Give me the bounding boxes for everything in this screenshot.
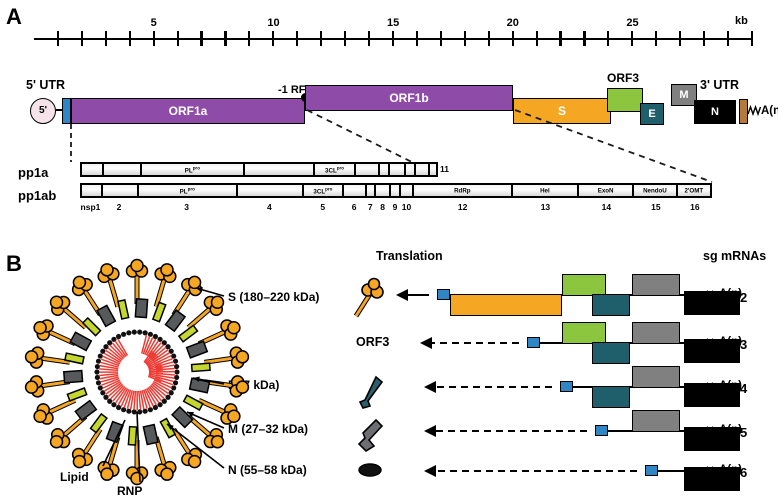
- pp1ab-label: pp1ab: [18, 189, 56, 202]
- callout-n-label: N (55–58 kDa): [228, 464, 307, 476]
- nsp-segment: PLpro: [138, 184, 237, 197]
- orf3-gene-box: [607, 88, 643, 112]
- sg-mrna-number-5: 5: [740, 425, 747, 440]
- sg-mrna-gene-e: [592, 294, 630, 316]
- pp1a-bar: PLpro3CLpro: [80, 162, 438, 177]
- ruler-tick: [416, 31, 418, 46]
- pp1ab-bar: PLpro3CLproRdRpHelExoNNendoU2'OMT: [80, 183, 712, 198]
- ruler-tick: [392, 31, 394, 46]
- callout-m-label: M (27–32 kDa): [228, 423, 308, 435]
- nsp-number: 4: [255, 202, 283, 212]
- ruler-tick: [200, 31, 202, 46]
- orf1b-box: ORF1b: [305, 85, 513, 111]
- ruler-tick: [655, 31, 657, 46]
- polya-label: A(n): [719, 424, 742, 436]
- sg-mrna-backbone: [560, 386, 705, 388]
- nsp-segment: [429, 163, 437, 176]
- sg-mrna-leader-box: [645, 465, 658, 476]
- nsp-segment: [375, 184, 390, 197]
- sg-mrna-gene-s: [450, 294, 562, 316]
- nsp-number: 16: [681, 202, 709, 212]
- nsp-segment: [400, 184, 413, 197]
- polya-tail-squiggle: [705, 336, 719, 350]
- nsp-segment: NendoU: [633, 184, 677, 197]
- panel-b-letter: B: [6, 253, 22, 275]
- sg-mrna-gene-m: [632, 322, 680, 344]
- nsp-segment: RdRp: [413, 184, 512, 197]
- sg-mrna-backbone: [645, 470, 705, 472]
- ruler-tick: [512, 31, 514, 46]
- sg-mrna-leader-box: [595, 425, 608, 436]
- ruler-tick: [105, 31, 107, 46]
- ruler-tick: [320, 31, 322, 46]
- polya-tail-squiggle: [705, 288, 719, 302]
- nsp-number: 2: [105, 202, 133, 212]
- ruler-tick: [559, 31, 561, 46]
- sg-mrna-number-3: 3: [740, 337, 747, 352]
- ruler-tick: [679, 31, 681, 46]
- callout-s-label: S (180–220 kDa): [228, 291, 319, 303]
- ruler-tick: [57, 31, 59, 46]
- sg-mrna-backbone: [527, 342, 705, 344]
- nsp-segment: [379, 163, 389, 176]
- nsp-segment: [237, 184, 303, 197]
- ruler-tick: [129, 31, 131, 46]
- ruler-tick: [536, 31, 538, 46]
- pp1a-end-number: 11: [440, 164, 454, 174]
- nsp-segment: Hel: [512, 184, 578, 197]
- pp1a-label: pp1a: [18, 166, 48, 179]
- ruler-major-label: 25: [626, 18, 638, 29]
- polya-label: A(n): [719, 464, 742, 476]
- e-protein-icon: [356, 375, 388, 413]
- ruler-tick: [703, 31, 705, 46]
- sg-mrna-gene-n: [684, 339, 740, 363]
- sg-mrna-gene-n: [684, 383, 740, 407]
- ruler-tick: [81, 31, 83, 46]
- nsp-number: 10: [392, 202, 420, 212]
- ruler-tick: [488, 31, 490, 46]
- ruler-tick: [631, 31, 633, 46]
- sg-mrna-gene-e: [592, 342, 630, 364]
- ruler-tick: [177, 31, 179, 46]
- sg-mrna-gene-m: [632, 366, 680, 388]
- polya-tail-squiggle: [705, 380, 719, 394]
- five-utr-label: 5' UTR: [26, 79, 65, 92]
- ruler-major-label: 15: [387, 18, 399, 29]
- sg-mrna-leader-box: [527, 337, 540, 348]
- ruler-major-label: 5: [148, 18, 160, 29]
- sg-mrna-leader-box: [437, 289, 450, 300]
- m-protein-icon: [354, 418, 388, 456]
- sg-mrna-gene-m: [632, 274, 680, 296]
- nsp-segment: ExoN: [578, 184, 633, 197]
- nsp-number: 14: [592, 202, 620, 212]
- sg-mrna-backbone: [437, 294, 705, 296]
- polya-label: A(n): [719, 288, 742, 300]
- nsp-segment: [343, 184, 366, 197]
- sg-mrna-number-4: 4: [740, 381, 747, 396]
- ruler-tick: [607, 31, 609, 46]
- nsp-segment: [415, 163, 429, 176]
- sg-mrna-gene-m: [632, 410, 680, 432]
- ruler-major-label: 10: [267, 18, 279, 29]
- ruler-tick: [751, 31, 753, 46]
- genome-ruler: 510152025: [34, 18, 752, 46]
- ruler-tick: [368, 31, 370, 46]
- ruler-tick: [224, 31, 226, 46]
- nsp-segment: [103, 163, 141, 176]
- polya-label: A(n): [719, 336, 742, 348]
- orf1b-label: ORF1b: [306, 92, 512, 104]
- ruler-tick: [296, 31, 298, 46]
- nsp-segment: [355, 163, 379, 176]
- nsp-segment: [366, 184, 375, 197]
- sg-mrna-gene-e: [592, 386, 630, 408]
- sg-mrna-backbone: [595, 430, 705, 432]
- callout-e-label: E (7 kDa): [228, 379, 279, 391]
- sg-mrna-gene-orf3: [562, 274, 606, 296]
- ruler-tick: [440, 31, 442, 46]
- m-gene-label: M: [672, 90, 696, 101]
- ruler-tick: [248, 31, 250, 46]
- nsp-segment: 3CLpro: [314, 163, 356, 176]
- sg-mrnas-header: sg mRNAs: [703, 250, 766, 263]
- polya-tail-squiggle: [705, 464, 719, 478]
- nsp-segment: [244, 163, 314, 176]
- ruler-tick: [272, 31, 274, 46]
- sg-mrna-number-2: 2: [740, 290, 747, 305]
- sg-mrna-gene-n: [684, 467, 740, 491]
- polya-tail-squiggle: [705, 424, 719, 438]
- ruler-tick: [153, 31, 155, 46]
- three-utr-label: 3' UTR: [700, 79, 739, 92]
- nsp-segment: PLpro: [141, 163, 244, 176]
- panel-a-letter: A: [6, 6, 22, 28]
- nsp-segment: [81, 184, 102, 197]
- nsp-segment: [81, 163, 103, 176]
- nsp-number-row: nsp123456789101213141516: [0, 202, 778, 216]
- callout-lipid-label: Lipid: [60, 471, 89, 483]
- nsp-number: 15: [642, 202, 670, 212]
- orf3-genome-label: ORF3: [607, 72, 639, 84]
- sg-mrna-gene-n: [684, 291, 740, 315]
- nsp-segment: 2'OMT: [677, 184, 711, 197]
- sg-mrna-leader-box: [560, 381, 573, 392]
- ruler-tick: [344, 31, 346, 46]
- translation-orf3-label: ORF3: [356, 336, 389, 349]
- ruler-unit-label: kb: [735, 16, 748, 27]
- sg-mrna-gene-n: [684, 427, 740, 451]
- nsp-segment: [390, 184, 399, 197]
- nsp-number: 3: [173, 202, 201, 212]
- sg-mrna-number-6: 6: [740, 465, 747, 480]
- translation-header: Translation: [376, 250, 443, 263]
- nsp-segment: [389, 163, 405, 176]
- polya-label: A(n): [719, 380, 742, 392]
- ruler-major-label: 20: [507, 18, 519, 29]
- ruler-tick: [464, 31, 466, 46]
- s-protein-icon: [350, 280, 386, 322]
- nsp-number: 13: [531, 202, 559, 212]
- nsp-number: nsp1: [76, 202, 104, 212]
- nsp-segment: [405, 163, 415, 176]
- sg-mrna-gene-orf3: [562, 322, 606, 344]
- callout-rnp-label: RNP: [117, 485, 142, 497]
- nsp-number: 12: [449, 202, 477, 212]
- ruler-tick: [727, 31, 729, 46]
- ruler-tick: [583, 31, 585, 46]
- nsp-segment: [102, 184, 138, 197]
- nsp-number: 5: [309, 202, 337, 212]
- virion-particle: [22, 258, 252, 488]
- n-protein-icon: [358, 462, 384, 480]
- nsp-segment: 3CLpro: [303, 184, 343, 197]
